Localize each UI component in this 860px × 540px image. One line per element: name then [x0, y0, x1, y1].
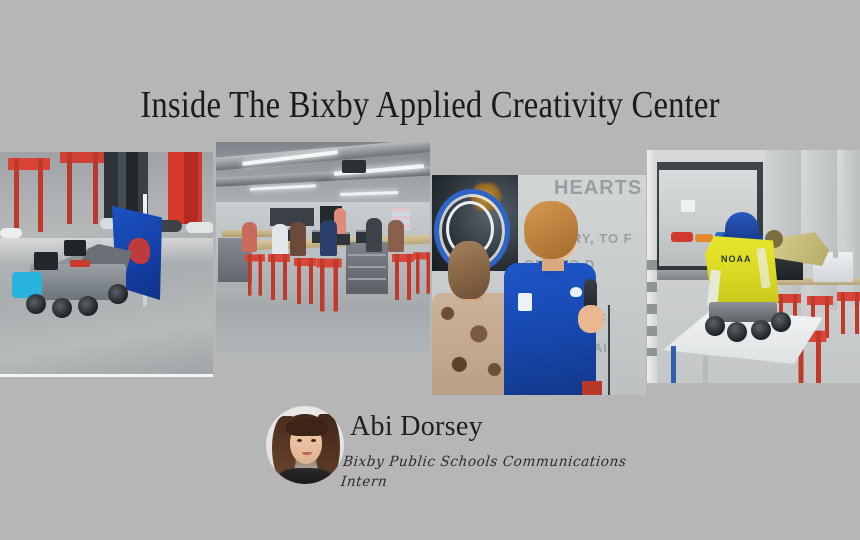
- photo4-robot-wheel: [771, 312, 791, 332]
- author-block: Abi Dorsey Bixby Public Schools Communic…: [266, 406, 666, 488]
- photo4-vest-label: NOAA: [721, 254, 752, 264]
- photo1-robot-motor: [34, 252, 58, 270]
- photo2-red-stool: [268, 254, 290, 300]
- photo2-student: [242, 222, 257, 252]
- photo3-person-a-hair: [448, 241, 490, 299]
- photo4-window-note: [681, 200, 695, 212]
- avatar-eye: [297, 439, 302, 442]
- avatar-eye: [311, 439, 316, 442]
- photo2-student: [272, 224, 288, 256]
- photo3-red-accent: [582, 381, 602, 395]
- photo-classroom: [216, 142, 430, 358]
- photo1-red-stool: [8, 158, 50, 232]
- photo3-wall-text-line1: HEARTS AL: [554, 177, 646, 200]
- photo2-red-stool: [245, 254, 265, 295]
- photo1-bottom-highlight: [0, 374, 213, 377]
- page-title: Inside The Bixby Applied Creativity Cent…: [60, 82, 800, 128]
- photo4-red-stool: [837, 292, 860, 334]
- photo2-red-stool: [316, 259, 341, 312]
- photo2-student: [388, 220, 404, 252]
- photo3-person-patterned-shirt: [432, 293, 510, 395]
- avatar-mouth: [302, 452, 312, 455]
- avatar-bangs: [286, 418, 328, 436]
- photo3-mic-cable: [608, 305, 610, 395]
- photo4-robot-wheel: [751, 320, 771, 340]
- photo2-red-stool: [413, 252, 430, 293]
- photo2-cabinet-shelf-line: [348, 278, 386, 280]
- photo4-table-leg: [703, 356, 708, 383]
- photo-robot-flag: [0, 152, 213, 377]
- photo2-cabinet-shelf-line: [348, 254, 386, 256]
- photo3-hand: [578, 305, 604, 333]
- photo2-red-stool: [294, 258, 316, 304]
- photo4-robot-wheel: [727, 322, 747, 342]
- photo3-polo-logo: [570, 287, 582, 297]
- photo4-colored-object: [671, 232, 693, 242]
- photo3-name-badge: [518, 293, 532, 311]
- photo4-robot-wheel: [705, 316, 725, 336]
- photo1-robot-wheel: [26, 294, 46, 314]
- photo2-student: [320, 220, 337, 256]
- photo4-printer-knob: [833, 250, 838, 258]
- author-name: Abi Dorsey: [350, 410, 483, 444]
- photo2-red-stool: [392, 254, 414, 300]
- avatar-clothing: [280, 468, 330, 484]
- photo1-robot-red-part: [70, 260, 90, 267]
- photo1-robot-motor: [64, 240, 86, 256]
- photo3-person-b-hair: [524, 201, 578, 259]
- photo-vest-robot: NOAA: [647, 150, 860, 383]
- photo2-cabinet-shelf-line: [348, 266, 386, 268]
- photo4-colored-object: [695, 234, 713, 242]
- photo4-table-leg: [671, 346, 676, 383]
- photo1-robot-wheel: [108, 284, 128, 304]
- photo1-flag-emblem: [128, 238, 150, 264]
- photo1-red-pants-person: [168, 152, 202, 224]
- photo1-red-stool: [60, 152, 106, 224]
- photo1-shoe: [0, 228, 22, 238]
- photo1-robot-wheel: [78, 296, 98, 316]
- photo1-robot-wheel: [52, 298, 72, 318]
- photo2-projector: [342, 160, 366, 173]
- slide-canvas: Inside The Bixby Applied Creativity Cent…: [0, 0, 860, 540]
- photo1-shoe: [186, 222, 213, 233]
- photo4-wall-panel: [807, 150, 837, 310]
- photo2-student: [366, 218, 382, 252]
- avatar: [266, 406, 344, 484]
- photo2-student: [290, 222, 306, 256]
- photo-presenters: HEARTS AL A TO TRY, TO F OUD TO D T, TO …: [432, 175, 646, 395]
- author-role: Bixby Public Schools Communications Inte…: [340, 452, 658, 492]
- photo4-wall-lettering: [647, 260, 657, 356]
